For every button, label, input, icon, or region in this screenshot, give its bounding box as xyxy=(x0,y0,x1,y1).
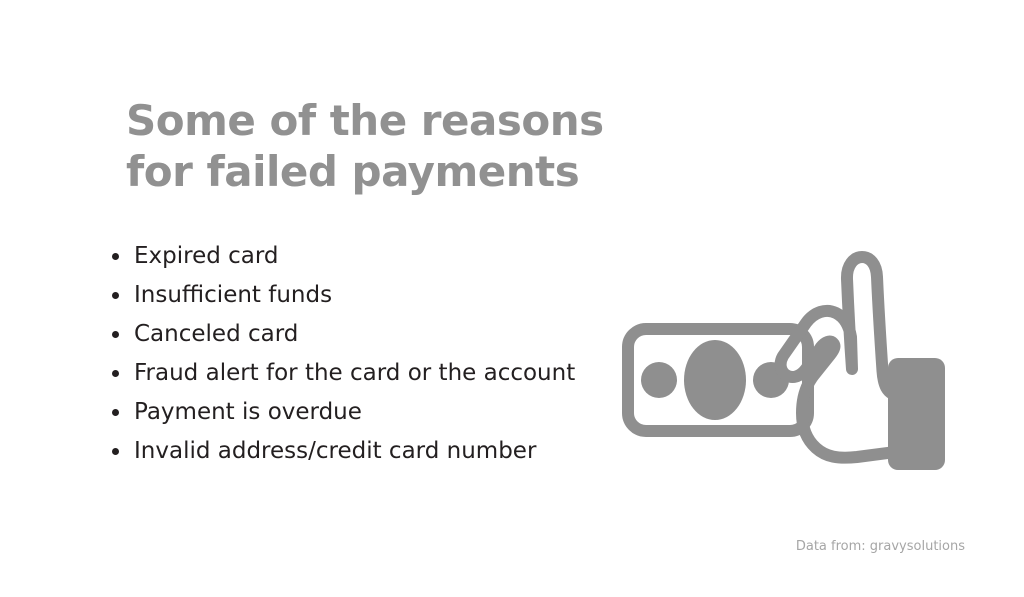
list-item-label: Invalid address/credit card number xyxy=(134,438,536,464)
bullet-marker-icon xyxy=(112,448,119,455)
reasons-list: Expired card Insufficient funds Canceled… xyxy=(108,238,608,472)
bullet-marker-icon xyxy=(112,370,119,377)
list-item-label: Canceled card xyxy=(134,321,298,347)
list-item-label: Fraud alert for the card or the account xyxy=(134,360,575,386)
slide-canvas: Some of the reasons for failed payments … xyxy=(0,0,1024,597)
banknote-left-circle-icon xyxy=(641,362,677,398)
page-title: Some of the reasons for failed payments xyxy=(126,95,646,197)
cash-and-pointing-hand-illustration xyxy=(610,245,960,490)
bullet-marker-icon xyxy=(112,409,119,416)
bullet-marker-icon xyxy=(112,253,119,260)
list-item: Canceled card xyxy=(108,316,608,353)
list-item: Fraud alert for the card or the account xyxy=(108,355,608,392)
list-item: Invalid address/credit card number xyxy=(108,433,608,470)
list-item-label: Insufficient funds xyxy=(134,282,332,308)
list-item: Payment is overdue xyxy=(108,394,608,431)
source-attribution: Data from: gravysolutions xyxy=(796,538,965,556)
bullet-marker-icon xyxy=(112,292,119,299)
list-item: Insufficient funds xyxy=(108,277,608,314)
hand-sleeve-block-icon xyxy=(888,358,945,470)
banknote-center-oval-icon xyxy=(684,340,746,420)
list-item: Expired card xyxy=(108,238,608,275)
list-item-label: Payment is overdue xyxy=(134,399,362,425)
bullet-marker-icon xyxy=(112,331,119,338)
list-item-label: Expired card xyxy=(134,243,279,269)
